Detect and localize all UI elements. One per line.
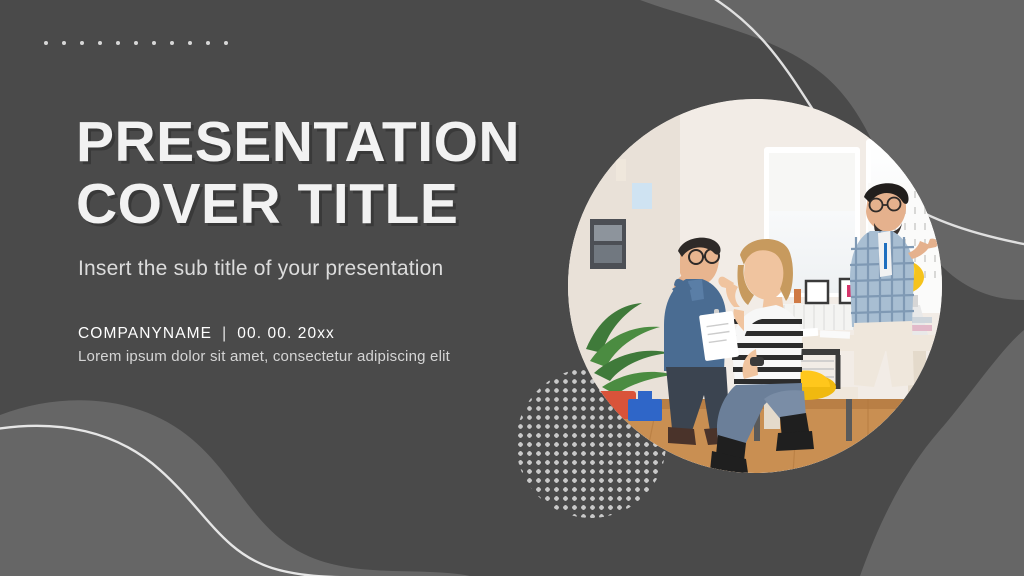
dot: [116, 41, 120, 45]
halftone-dense-fill: [516, 431, 666, 518]
page-title-line-1: PRESENTATION: [76, 112, 576, 174]
meta-description: Lorem ipsum dolor sit amet, consectetur …: [78, 348, 598, 365]
presentation-cover-slide: PRESENTATION COVER TITLE Insert the sub …: [0, 0, 1024, 576]
page-title-line-2: COVER TITLE: [76, 174, 576, 236]
cover-photo: [568, 99, 942, 473]
company-date-line: COMPANYNAME|00. 00. 20xx: [78, 325, 598, 343]
dot: [188, 41, 192, 45]
dot: [62, 41, 66, 45]
dot: [44, 41, 48, 45]
dot: [98, 41, 102, 45]
dot: [134, 41, 138, 45]
curve-line-bottom-left: [0, 426, 470, 576]
presentation-date: 00. 00. 20xx: [237, 325, 335, 342]
page-subtitle: Insert the sub title of your presentatio…: [78, 257, 576, 281]
company-name: COMPANYNAME: [78, 325, 212, 342]
meta-block: COMPANYNAME|00. 00. 20xx Lorem ipsum dol…: [78, 325, 598, 365]
dot: [152, 41, 156, 45]
dot: [224, 41, 228, 45]
dot: [206, 41, 210, 45]
meta-separator: |: [222, 325, 227, 343]
dot: [80, 41, 84, 45]
blob-bottom-left: [0, 400, 470, 576]
dot-row-decoration: [44, 41, 228, 45]
dot: [170, 41, 174, 45]
title-block: PRESENTATION COVER TITLE Insert the sub …: [76, 112, 576, 281]
page-title: PRESENTATION COVER TITLE: [76, 112, 576, 235]
